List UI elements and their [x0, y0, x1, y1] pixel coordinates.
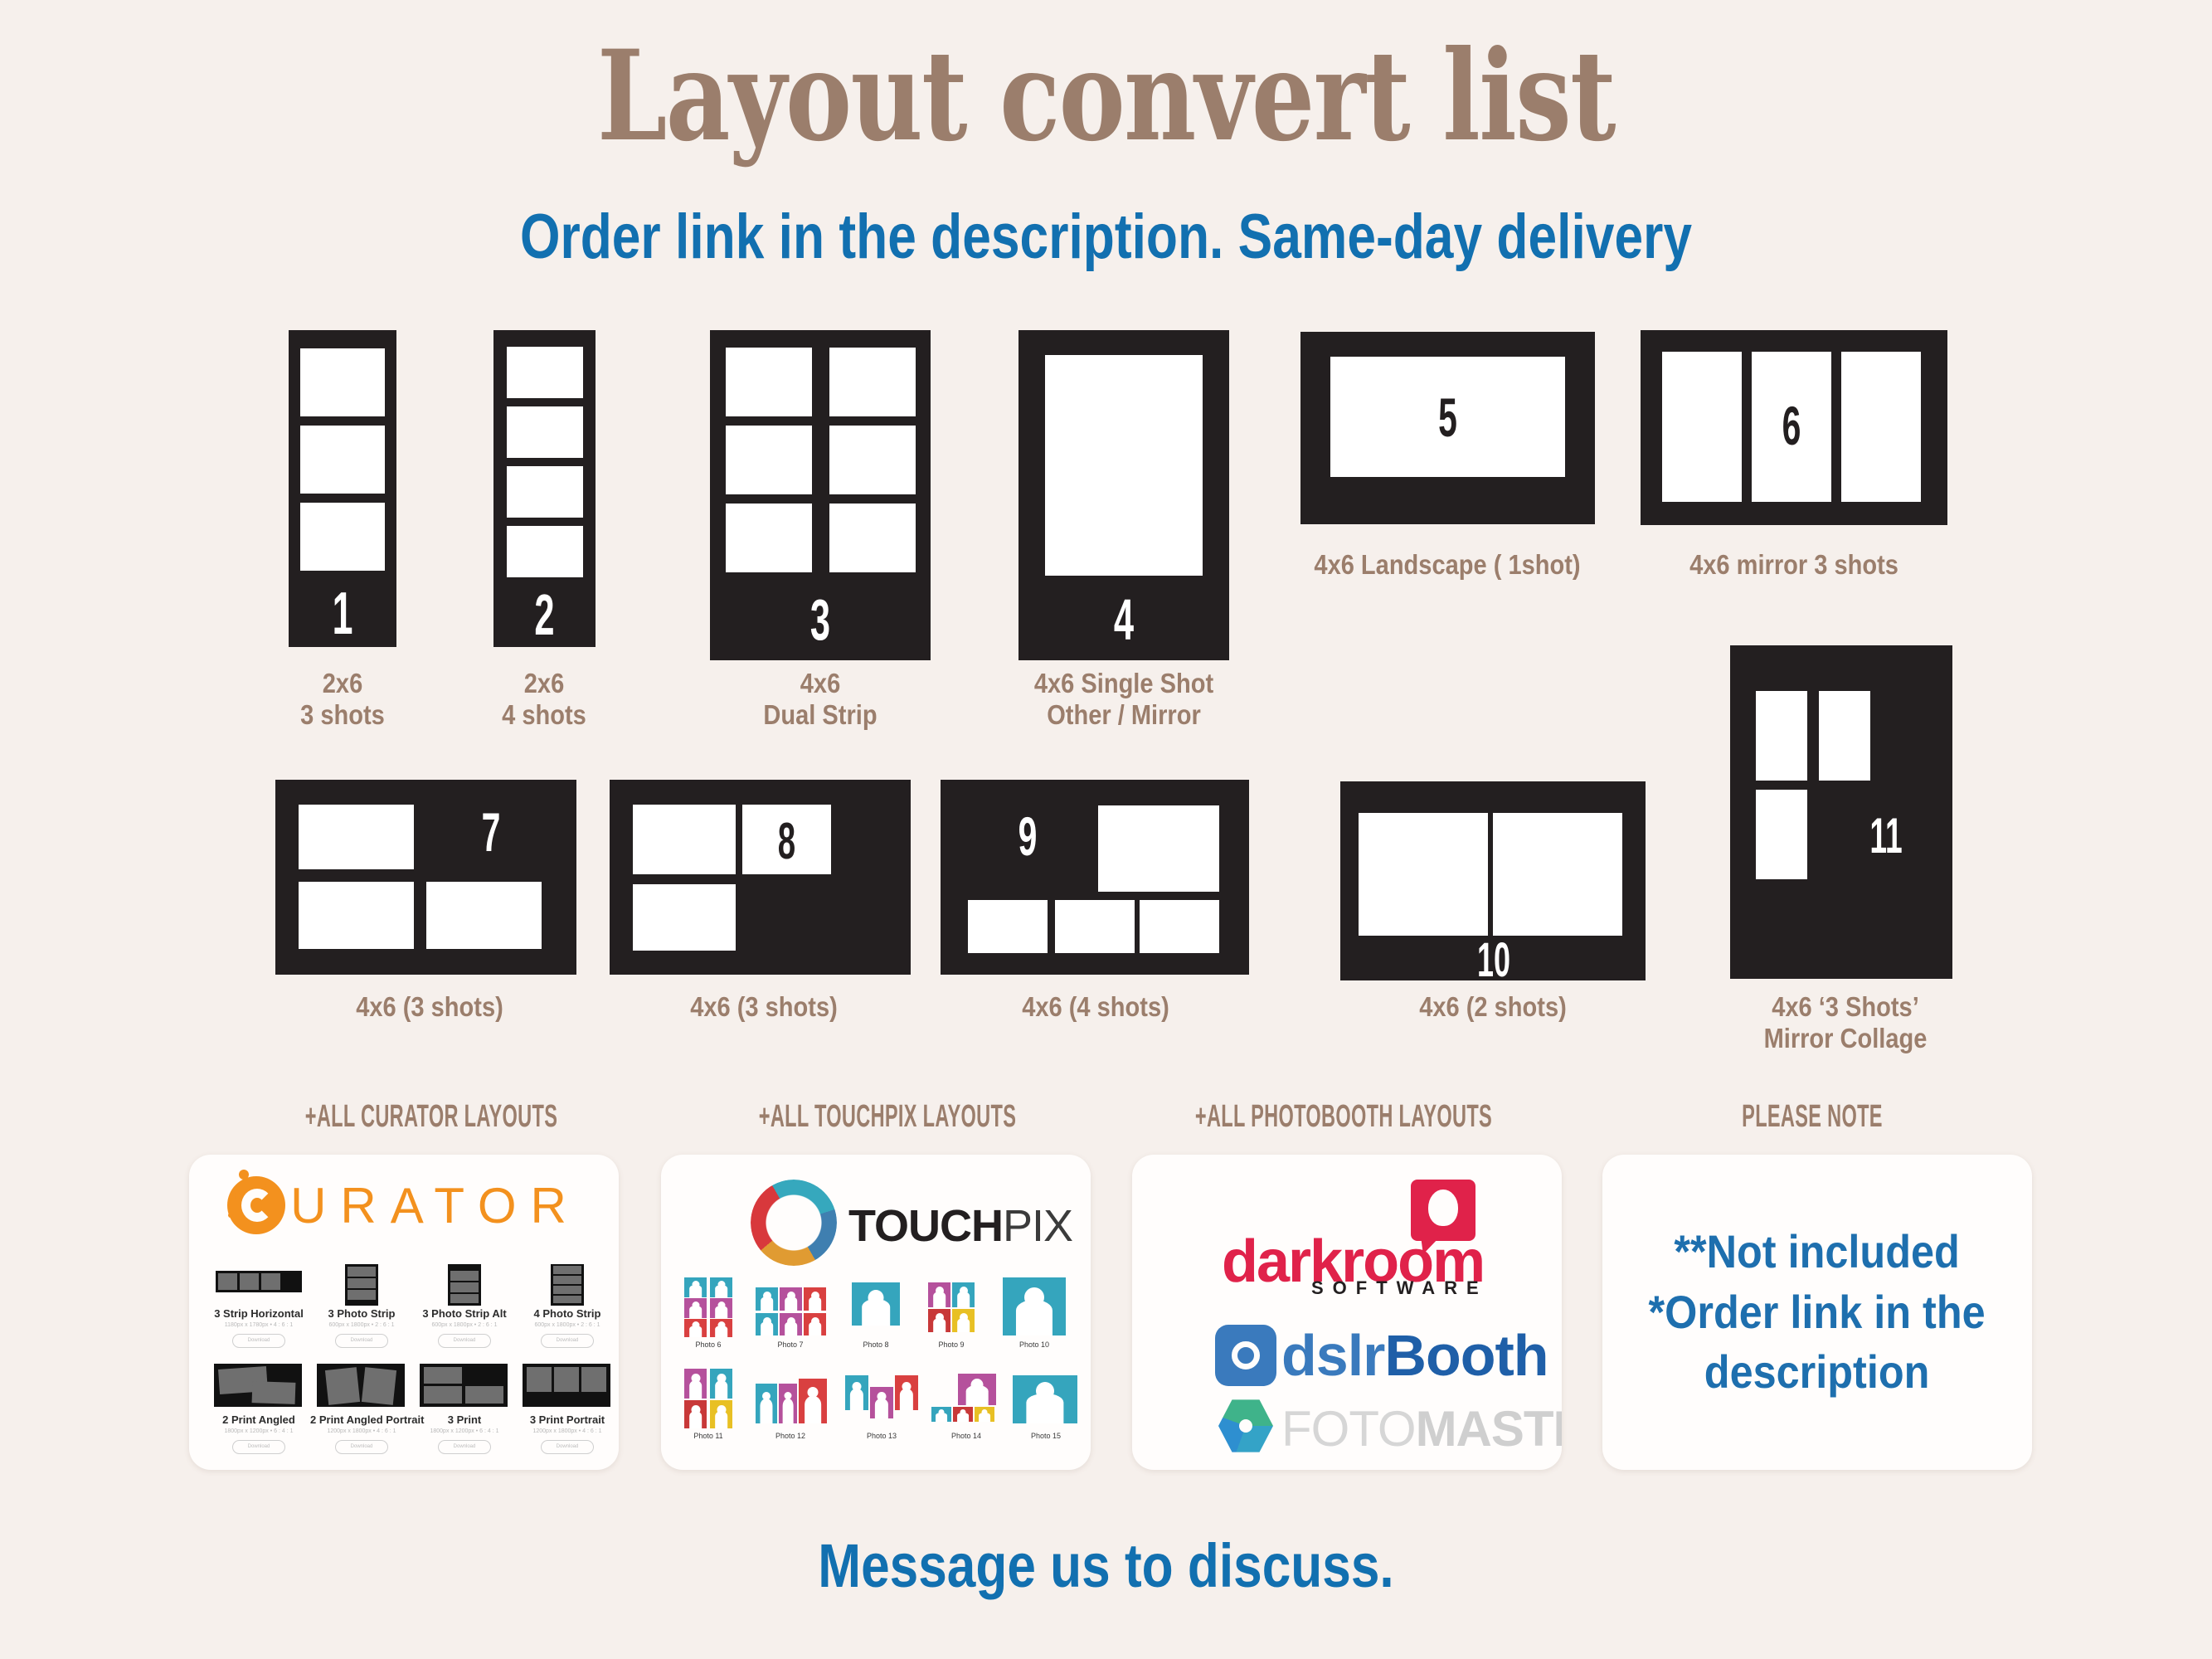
- touchpix-layout-preview: [751, 1286, 830, 1337]
- dslrbooth-wordmark: dslrBooth: [1281, 1322, 1548, 1389]
- curator-dot: [228, 1213, 233, 1218]
- photo-cell: [968, 900, 1048, 953]
- download-button[interactable]: Download: [438, 1440, 491, 1454]
- photo-placeholder: [553, 1266, 581, 1274]
- curator-layout-preview: [420, 1364, 508, 1407]
- caption-line: Mirror Collage: [1751, 1023, 1941, 1054]
- person-head: [763, 1292, 771, 1300]
- touchpix-layout-preview: [843, 1375, 920, 1428]
- person-head: [692, 1321, 699, 1329]
- layout-thumb-1[interactable]: 1: [289, 330, 396, 647]
- photo-placeholder: [348, 1290, 376, 1300]
- photo-cell: [507, 347, 583, 398]
- photo-cell: [633, 884, 736, 951]
- curator-item[interactable]: 2 Print Angled 1800px x 1200px • 6 : 4 :…: [207, 1364, 310, 1459]
- touchpix-item-label: Photo 10: [993, 1340, 1076, 1349]
- touchpix-layout-preview: [1011, 1375, 1081, 1428]
- photobooth-card[interactable]: darkroom SOFTWARE dslrBooth FOTOMASTER: [1132, 1155, 1562, 1470]
- photo-cell: [1045, 355, 1203, 576]
- photo-placeholder: [261, 1273, 280, 1290]
- touchpix-item[interactable]: Photo 7: [747, 1277, 834, 1354]
- touchpix-item-label: Photo 11: [681, 1432, 736, 1440]
- person-silhouette: [715, 1380, 728, 1399]
- layout-caption-8: 4x6 (3 shots): [673, 991, 855, 1023]
- person-head: [868, 1290, 884, 1306]
- person-silhouette: [805, 1396, 821, 1423]
- caption-line: 4x6: [732, 668, 907, 699]
- photo-cell: 8: [742, 805, 831, 874]
- caption-line: 4x6 ‘3 Shots’: [1751, 991, 1941, 1023]
- footer-message: Message us to discuss.: [177, 1530, 2035, 1601]
- photo-tile: [684, 1298, 707, 1318]
- photo-tile: [931, 1407, 951, 1422]
- person-head: [939, 1409, 945, 1415]
- photo-tile: [710, 1369, 732, 1399]
- layout-thumb-9[interactable]: 9: [941, 780, 1249, 975]
- photo-cell: [1662, 352, 1742, 502]
- section-heading-touchpix: +ALL TOUCHPIX LAYOUTS: [698, 1099, 1078, 1135]
- photo-cell: [726, 348, 812, 416]
- layout-caption-1: 2x6 3 shots: [255, 668, 430, 732]
- photo-placeholder: [465, 1386, 503, 1404]
- person-head: [1024, 1287, 1044, 1307]
- caption-line: Other / Mirror: [1033, 699, 1215, 731]
- curator-card[interactable]: URATOR 3 Strip Horizontal 1180px x 1780p…: [189, 1155, 619, 1470]
- person-head: [785, 1392, 792, 1399]
- photo-cell: [1493, 813, 1622, 936]
- photo-placeholder: [252, 1381, 296, 1404]
- download-button[interactable]: Download: [335, 1334, 388, 1348]
- person-head: [811, 1317, 819, 1326]
- layout-thumb-3[interactable]: 3: [710, 330, 931, 660]
- curator-item[interactable]: 3 Photo Strip Alt 600px x 1800px • 2 : 6…: [413, 1264, 516, 1354]
- layout-caption-9: 4x6 (4 shots): [1004, 991, 1187, 1023]
- person-head: [717, 1301, 725, 1309]
- person-head: [1036, 1382, 1054, 1400]
- photo-cell: [829, 426, 916, 494]
- photo-cell: [300, 426, 385, 494]
- touchpix-item[interactable]: Photo 14: [926, 1369, 1006, 1445]
- download-button[interactable]: Download: [335, 1440, 388, 1454]
- person-silhouette: [900, 1389, 913, 1410]
- photo-tile: [804, 1287, 826, 1311]
- photo-tile: [1013, 1375, 1077, 1423]
- photo-tile: [710, 1319, 732, 1337]
- photo-tile: [804, 1313, 826, 1335]
- download-button[interactable]: Download: [232, 1334, 285, 1348]
- touchpix-item[interactable]: Photo 6: [681, 1277, 736, 1354]
- curator-layout-preview: [216, 1271, 302, 1292]
- layout-thumb-8[interactable]: 8: [610, 780, 911, 975]
- caption-line: 3 shots: [255, 699, 430, 731]
- photo-tile: [710, 1298, 732, 1318]
- photo-tile: [928, 1282, 950, 1307]
- photo-cell: 6: [1752, 352, 1831, 502]
- curator-item-sub: 600px x 1800px • 2 : 6 : 1: [310, 1322, 413, 1328]
- layout-thumb-2[interactable]: 2: [493, 330, 596, 647]
- touchpix-item-label: Photo 14: [926, 1432, 1006, 1440]
- curator-item-label: 2 Print Angled: [207, 1413, 310, 1426]
- curator-item-label: 3 Print: [413, 1413, 516, 1426]
- photo-cell: [1098, 805, 1219, 892]
- layout-thumb-5[interactable]: 5: [1300, 332, 1595, 524]
- photo-tile: [953, 1407, 973, 1422]
- photo-placeholder: [450, 1282, 479, 1292]
- photo-placeholder: [450, 1294, 479, 1303]
- layout-number: 1: [309, 584, 377, 644]
- photo-placeholder: [450, 1271, 479, 1281]
- layout-caption-11: 4x6 ‘3 Shots’ Mirror Collage: [1751, 991, 1941, 1055]
- person-head: [960, 1409, 966, 1415]
- person-head: [811, 1292, 819, 1300]
- photo-placeholder: [240, 1273, 259, 1290]
- touchpix-item[interactable]: Photo 10: [993, 1277, 1076, 1354]
- fotomaster-word-bold: MASTER: [1416, 1401, 1562, 1457]
- curator-dot: [239, 1170, 249, 1180]
- person-head: [808, 1387, 819, 1398]
- dslrbooth-word-light: dslr: [1281, 1323, 1384, 1388]
- photo-tile: [710, 1277, 732, 1297]
- curator-item-sub: 600px x 1800px • 2 : 6 : 1: [516, 1322, 619, 1328]
- photo-cell: 5: [1330, 357, 1565, 477]
- photo-cell: [1359, 813, 1488, 936]
- person-head: [960, 1313, 968, 1321]
- layout-number: 5: [1375, 390, 1520, 445]
- photo-tile: [852, 1282, 900, 1326]
- photo-cell: [726, 504, 812, 572]
- photo-tile: [1003, 1277, 1066, 1335]
- photo-tile: [952, 1282, 975, 1307]
- photo-tile: [928, 1309, 950, 1332]
- touchpix-item[interactable]: Photo 8: [840, 1277, 912, 1354]
- photo-tile: [684, 1319, 707, 1337]
- note-line-1: **Not included: [1649, 1222, 1986, 1282]
- layout-caption-2: 2x6 4 shots: [456, 668, 631, 732]
- note-line-2: *Order link in the: [1649, 1282, 1986, 1343]
- photo-tile: [952, 1309, 975, 1332]
- photo-cell: [300, 348, 385, 416]
- fotomaster-word-light: FOTO: [1281, 1401, 1416, 1457]
- curator-item-label: 3 Strip Horizontal: [207, 1307, 310, 1320]
- touchpix-item-label: Photo 15: [1009, 1432, 1082, 1440]
- photo-cell: [1841, 352, 1921, 502]
- caption-line: 2x6: [456, 668, 631, 699]
- photo-tile: [975, 1407, 994, 1422]
- person-head: [853, 1382, 862, 1391]
- section-heading-photobooth: +ALL PHOTOBOOTH LAYOUTS: [1154, 1099, 1534, 1135]
- person-head: [936, 1313, 944, 1321]
- touchpix-item-label: Photo 7: [747, 1340, 834, 1349]
- curator-item-sub: 1200px x 1800px • 4 : 6 : 1: [516, 1428, 619, 1434]
- photo-cell: [299, 882, 414, 949]
- layout-number: 3: [752, 591, 889, 649]
- layout-caption-4: 4x6 Single Shot Other / Mirror: [1033, 668, 1215, 732]
- touchpix-layout-preview: [930, 1374, 1003, 1428]
- photo-tile: [780, 1287, 802, 1311]
- photo-placeholder: [553, 1296, 581, 1303]
- dslrbooth-word-bold: Booth: [1384, 1323, 1548, 1388]
- touchpix-item-label: Photo 6: [681, 1340, 736, 1349]
- photo-cell: [300, 503, 385, 571]
- touchpix-item-label: Photo 13: [840, 1432, 923, 1440]
- curator-item-sub: 1800px x 1200px • 6 : 4 : 1: [413, 1428, 516, 1434]
- curator-dot: [254, 1203, 262, 1211]
- layout-thumb-11[interactable]: 11: [1730, 645, 1952, 979]
- layout-number: 7: [468, 805, 514, 859]
- person-silhouette: [850, 1389, 863, 1410]
- caption-line: Dual Strip: [732, 699, 907, 731]
- person-head: [717, 1281, 725, 1288]
- curator-layout-preview: [551, 1264, 584, 1306]
- touchpix-item-label: Photo 9: [918, 1340, 984, 1349]
- touchpix-layout-preview: [751, 1379, 830, 1428]
- layout-number: 11: [1858, 811, 1914, 861]
- person-head: [762, 1392, 771, 1400]
- layout-number: 4: [1058, 591, 1189, 649]
- photo-cell: [1055, 900, 1135, 953]
- photo-placeholder: [218, 1273, 237, 1290]
- touchpix-layout-preview: [684, 1277, 732, 1337]
- curator-item-label: 3 Photo Strip Alt: [413, 1307, 516, 1320]
- touchpix-card[interactable]: TOUCHPIX Photo 6 Pho: [661, 1155, 1091, 1470]
- curator-layout-preview: [448, 1264, 481, 1306]
- layout-number: 8: [759, 816, 814, 868]
- photo-placeholder: [527, 1367, 552, 1392]
- curator-item[interactable]: 3 Print Portrait 1200px x 1800px • 4 : 6…: [516, 1364, 619, 1459]
- poster-canvas: Layout convert list Order link in the de…: [0, 0, 2212, 1659]
- photo-cell: [299, 805, 414, 869]
- photo-cell: [1756, 691, 1807, 781]
- curator-item-label: 3 Photo Strip: [310, 1307, 413, 1320]
- touchpix-item[interactable]: Photo 13: [840, 1369, 923, 1445]
- layout-number: 6: [1767, 398, 1816, 453]
- person-silhouette: [689, 1380, 702, 1399]
- curator-item-label: 3 Print Portrait: [516, 1413, 619, 1426]
- curator-item[interactable]: 3 Photo Strip 600px x 1800px • 2 : 6 : 1…: [310, 1264, 413, 1354]
- photo-tile: [799, 1379, 827, 1423]
- photo-tile: [684, 1369, 707, 1399]
- photo-placeholder: [348, 1267, 376, 1277]
- touchpix-item[interactable]: Photo 11: [681, 1369, 736, 1445]
- layout-thumb-7[interactable]: 7: [275, 780, 576, 975]
- curator-item[interactable]: 2 Print Angled Portrait 1200px x 1800px …: [310, 1364, 413, 1459]
- photo-cell: [507, 466, 583, 518]
- download-button[interactable]: Download: [541, 1334, 594, 1348]
- photo-cell: [507, 526, 583, 577]
- photo-cell: [1140, 900, 1219, 953]
- photo-tile: [845, 1375, 868, 1410]
- curator-item-label: 4 Photo Strip: [516, 1307, 619, 1320]
- please-note-text: **Not included *Order link in the descri…: [1602, 1155, 2032, 1470]
- layout-number: 2: [513, 586, 576, 644]
- curator-wordmark: URATOR: [290, 1177, 581, 1234]
- photo-cell: [507, 406, 583, 458]
- fotomaster-aperture-icon: [1218, 1399, 1273, 1453]
- section-heading-please-note: PLEASE NOTE: [1622, 1099, 2003, 1135]
- layout-thumb-10[interactable]: 10: [1340, 781, 1646, 980]
- touchpix-ring-icon: [751, 1180, 837, 1266]
- curator-dot: [235, 1193, 241, 1199]
- photo-tile: [958, 1374, 996, 1405]
- curator-layout-preview: [214, 1364, 302, 1407]
- person-head: [763, 1317, 771, 1326]
- person-head: [717, 1321, 725, 1329]
- curator-layout-preview: [523, 1364, 610, 1407]
- photo-tile: [780, 1313, 802, 1335]
- photo-cell: [1819, 691, 1870, 781]
- photo-placeholder: [325, 1367, 360, 1405]
- person-head: [902, 1382, 912, 1391]
- photo-tile: [779, 1384, 797, 1423]
- layout-caption-10: 4x6 (2 shots): [1402, 991, 1584, 1023]
- layout-number: 10: [1461, 937, 1528, 985]
- photo-placeholder: [362, 1367, 396, 1405]
- photo-cell: [426, 882, 542, 949]
- curator-item-label: 2 Print Angled Portrait: [310, 1413, 413, 1426]
- caption-line: 4x6 (3 shots): [673, 991, 855, 1023]
- page-title: Layout convert list: [221, 23, 1991, 169]
- photo-tile: [870, 1387, 893, 1418]
- photo-tile: [756, 1384, 777, 1423]
- caption-line: 4x6 Single Shot: [1033, 668, 1215, 699]
- touchpix-item[interactable]: Photo 15: [1009, 1369, 1082, 1445]
- caption-line: 4x6 (3 shots): [338, 991, 521, 1023]
- photo-tile: [756, 1287, 778, 1311]
- touchpix-item[interactable]: Photo 9: [918, 1277, 984, 1354]
- touchpix-item[interactable]: Photo 12: [747, 1369, 834, 1445]
- touchpix-item-label: Photo 8: [840, 1340, 912, 1349]
- person-head: [878, 1392, 887, 1401]
- curator-item-sub: 1800px x 1200px • 6 : 4 : 1: [207, 1428, 310, 1434]
- person-head: [717, 1374, 726, 1383]
- curator-item-sub: 1200px x 1800px • 4 : 6 : 1: [310, 1428, 413, 1434]
- photo-tile: [710, 1400, 732, 1428]
- person-head: [691, 1405, 700, 1414]
- touchpix-layout-preview: [848, 1282, 903, 1337]
- curator-layout-preview: [345, 1264, 378, 1306]
- photo-cell: [726, 426, 812, 494]
- touchpix-wordmark: TOUCHPIX: [848, 1200, 1072, 1252]
- person-head: [936, 1287, 944, 1295]
- person-head: [787, 1317, 795, 1326]
- curator-item-sub: 1180px x 1780px • 4 : 6 : 1: [207, 1322, 310, 1328]
- photo-tile: [684, 1400, 707, 1428]
- photo-tile: [684, 1277, 707, 1297]
- caption-line: 4x6 (4 shots): [1004, 991, 1187, 1023]
- touchpix-word-bold: TOUCH: [848, 1201, 1003, 1251]
- photo-tile: [895, 1375, 918, 1410]
- photo-placeholder: [553, 1276, 581, 1284]
- photo-cell: [829, 348, 916, 416]
- layout-caption-6: 4x6 mirror 3 shots: [1637, 549, 1951, 581]
- layout-thumb-4[interactable]: 4: [1018, 330, 1229, 660]
- caption-line: 4x6 Landscape ( 1shot): [1291, 549, 1604, 581]
- page-subtitle: Order link in the description. Same-day …: [199, 201, 2013, 273]
- fotomaster-wordmark: FOTOMASTER: [1281, 1400, 1562, 1457]
- layout-number: 9: [1004, 809, 1051, 864]
- photo-placeholder: [424, 1386, 462, 1404]
- person-silhouette: [783, 1399, 794, 1423]
- photo-placeholder: [348, 1278, 376, 1288]
- photo-placeholder: [581, 1367, 606, 1392]
- person-head: [717, 1405, 726, 1414]
- photo-placeholder: [424, 1367, 462, 1384]
- dslrbooth-camera-icon: [1215, 1325, 1276, 1386]
- layout-caption-5: 4x6 Landscape ( 1shot): [1291, 549, 1604, 581]
- photo-placeholder: [553, 1286, 581, 1294]
- section-heading-curator: +ALL CURATOR LAYOUTS: [241, 1099, 622, 1135]
- layout-caption-7: 4x6 (3 shots): [338, 991, 521, 1023]
- touchpix-layout-preview: [684, 1369, 732, 1428]
- person-head: [982, 1409, 988, 1415]
- person-silhouette: [760, 1399, 772, 1423]
- caption-line: 2x6: [255, 668, 430, 699]
- curator-dot: [260, 1183, 266, 1190]
- download-button[interactable]: Download: [232, 1440, 285, 1454]
- curator-layout-preview: [317, 1364, 405, 1407]
- curator-item[interactable]: 3 Strip Horizontal 1180px x 1780px • 4 :…: [207, 1264, 310, 1354]
- caption-line: 4x6 (2 shots): [1402, 991, 1584, 1023]
- person-head: [692, 1281, 699, 1288]
- person-head: [692, 1301, 699, 1309]
- person-silhouette: [875, 1399, 888, 1418]
- photo-cell: [829, 504, 916, 572]
- touchpix-item-label: Photo 12: [747, 1432, 834, 1440]
- please-note-card[interactable]: **Not included *Order link in the descri…: [1602, 1155, 2032, 1470]
- download-button[interactable]: Download: [541, 1440, 594, 1454]
- photo-placeholder: [554, 1367, 579, 1392]
- caption-line: 4 shots: [456, 699, 631, 731]
- person-head: [787, 1292, 795, 1300]
- layout-thumb-6[interactable]: 6: [1641, 330, 1947, 525]
- photo-cell: [1756, 790, 1807, 879]
- curator-item-sub: 600px x 1800px • 2 : 6 : 1: [413, 1322, 516, 1328]
- note-line-3: description: [1649, 1342, 1986, 1403]
- curator-item[interactable]: 4 Photo Strip 600px x 1800px • 2 : 6 : 1…: [516, 1264, 619, 1354]
- curator-item[interactable]: 3 Print 1800px x 1200px • 6 : 4 : 1 Down…: [413, 1364, 516, 1459]
- download-button[interactable]: Download: [438, 1334, 491, 1348]
- person-head: [960, 1287, 968, 1295]
- touchpix-word-light: PIX: [1003, 1201, 1072, 1251]
- darkroom-subtitle: SOFTWARE: [1311, 1277, 1488, 1299]
- person-head: [971, 1379, 984, 1391]
- touchpix-layout-preview: [998, 1277, 1071, 1337]
- caption-line: 4x6 mirror 3 shots: [1637, 549, 1951, 581]
- person-head: [691, 1374, 700, 1383]
- touchpix-layout-preview: [925, 1282, 978, 1337]
- photo-cell: [633, 805, 736, 874]
- photo-tile: [756, 1313, 778, 1335]
- layout-caption-3: 4x6 Dual Strip: [732, 668, 907, 732]
